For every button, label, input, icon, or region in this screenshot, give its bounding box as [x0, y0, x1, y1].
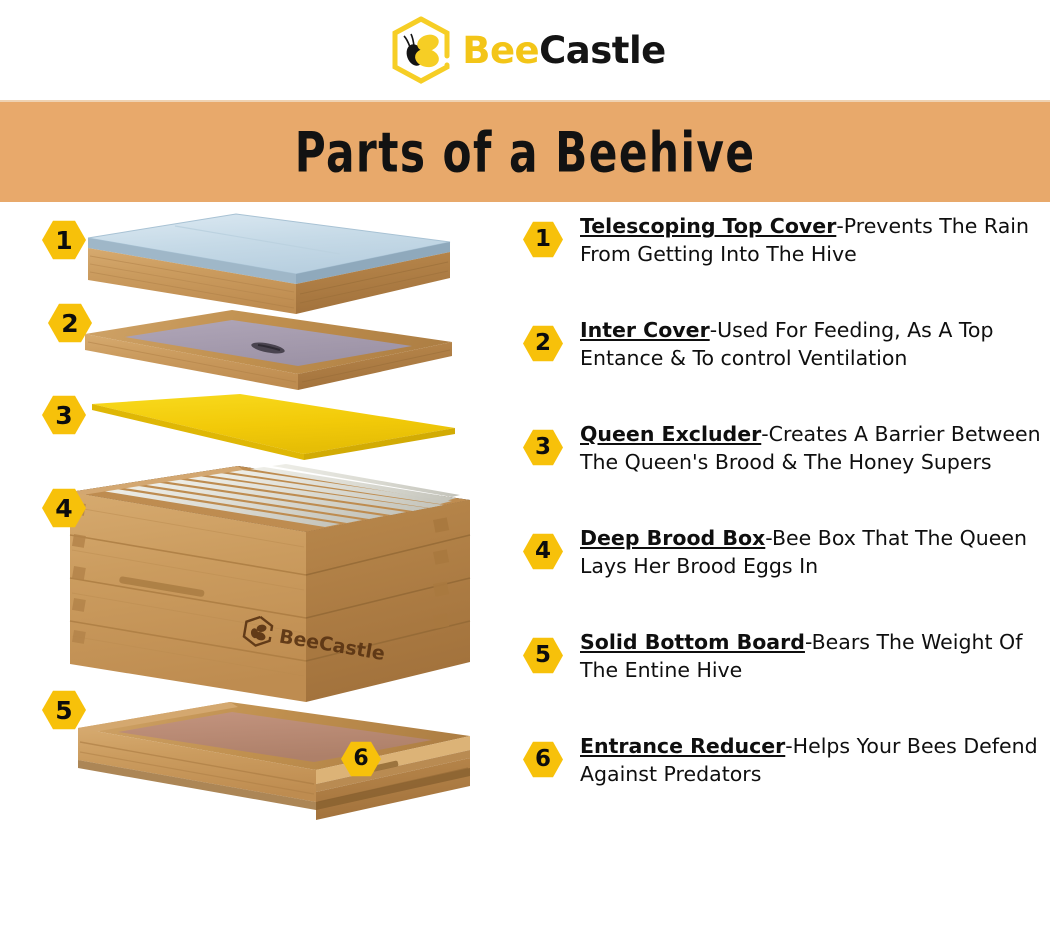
diagram-marker-5[interactable]: 5 — [42, 690, 86, 730]
brand-header: BeeCastle — [0, 0, 1050, 100]
diagram-marker-5-number: 5 — [55, 698, 72, 723]
diagram-marker-6-number: 6 — [353, 748, 368, 770]
legend-separator-5: - — [805, 630, 812, 654]
legend-text-1: Telescoping Top Cover-Prevents The Rain … — [580, 210, 1050, 269]
legend-term-4: Deep Brood Box — [580, 526, 765, 550]
legend-term-2: Inter Cover — [580, 318, 710, 342]
title-banner: Parts of a Beehive — [0, 100, 1050, 202]
legend-text-2: Inter Cover-Used For Feeding, As A Top E… — [580, 314, 1050, 373]
brand-word-castle: Castle — [539, 29, 666, 72]
telescoping-top-cover-graphic — [88, 214, 450, 314]
legend-badge-2-number: 2 — [535, 332, 551, 355]
legend-text-3: Queen Excluder-Creates A Barrier Between… — [580, 418, 1050, 477]
legend-separator-3: - — [761, 422, 768, 446]
brand-word-bee: Bee — [462, 29, 539, 72]
diagram-marker-4[interactable]: 4 — [42, 488, 86, 528]
legend-badge-2: 2 — [523, 325, 563, 362]
legend-term-6: Entrance Reducer — [580, 734, 785, 758]
legend-badge-1-number: 1 — [535, 228, 551, 251]
legend-item-entrance-reducer[interactable]: 6 Entrance Reducer-Helps Your Bees Defen… — [523, 730, 1050, 834]
legend-item-deep-brood-box[interactable]: 4 Deep Brood Box-Bee Box That The Queen … — [523, 522, 1050, 626]
inner-cover-graphic — [85, 310, 452, 390]
queen-excluder-graphic — [92, 394, 455, 460]
legend-separator-6: - — [785, 734, 792, 758]
content-area: BeeCastle — [0, 202, 1050, 927]
diagram-marker-4-number: 4 — [55, 496, 72, 521]
legend-separator-4: - — [765, 526, 772, 550]
legend-separator-1: - — [836, 214, 843, 238]
legend-badge-6: 6 — [523, 741, 563, 778]
legend-item-telescoping-top-cover[interactable]: 1 Telescoping Top Cover-Prevents The Rai… — [523, 210, 1050, 314]
legend-badge-1: 1 — [523, 221, 563, 258]
legend-badge-3: 3 — [523, 429, 563, 466]
diagram-marker-1-number: 1 — [55, 228, 72, 253]
deep-brood-box-graphic: BeeCastle — [70, 464, 470, 702]
legend-text-5: Solid Bottom Board-Bears The Weight Of T… — [580, 626, 1050, 685]
diagram-marker-2-number: 2 — [61, 311, 78, 336]
legend-term-1: Telescoping Top Cover — [580, 214, 836, 238]
diagram-marker-3[interactable]: 3 — [42, 395, 86, 435]
diagram-marker-2[interactable]: 2 — [48, 303, 92, 343]
legend-item-solid-bottom-board[interactable]: 5 Solid Bottom Board-Bears The Weight Of… — [523, 626, 1050, 730]
legend-item-inner-cover[interactable]: 2 Inter Cover-Used For Feeding, As A Top… — [523, 314, 1050, 418]
legend-badge-5-number: 5 — [535, 644, 551, 667]
diagram-marker-1[interactable]: 1 — [42, 220, 86, 260]
solid-bottom-board-graphic — [78, 702, 470, 820]
legend-badge-3-number: 3 — [535, 436, 551, 459]
exploded-beehive-diagram: BeeCastle — [0, 202, 515, 927]
legend-separator-2: - — [710, 318, 717, 342]
legend-badge-5: 5 — [523, 637, 563, 674]
legend-badge-6-number: 6 — [535, 748, 551, 771]
diagram-marker-6[interactable]: 6 — [341, 741, 381, 777]
legend-term-3: Queen Excluder — [580, 422, 761, 446]
legend-badge-4-number: 4 — [535, 540, 551, 563]
legend-item-queen-excluder[interactable]: 3 Queen Excluder-Creates A Barrier Betwe… — [523, 418, 1050, 522]
bee-hexagon-logo-icon — [384, 13, 458, 87]
diagram-marker-3-number: 3 — [55, 403, 72, 428]
page-title: Parts of a Beehive — [295, 120, 756, 185]
parts-legend-list: 1 Telescoping Top Cover-Prevents The Rai… — [523, 210, 1050, 834]
brand-wordmark: BeeCastle — [462, 32, 666, 69]
legend-text-4: Deep Brood Box-Bee Box That The Queen La… — [580, 522, 1050, 581]
legend-badge-4: 4 — [523, 533, 563, 570]
brand-logo-lockup: BeeCastle — [384, 13, 666, 87]
legend-term-5: Solid Bottom Board — [580, 630, 805, 654]
legend-text-6: Entrance Reducer-Helps Your Bees Defend … — [580, 730, 1050, 789]
